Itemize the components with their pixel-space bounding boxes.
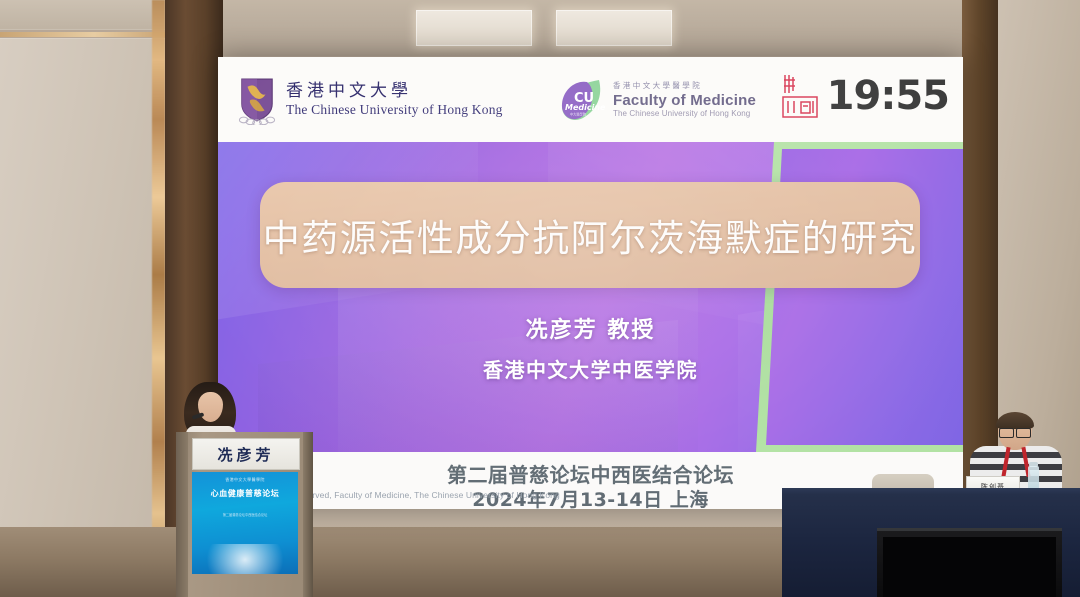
confidence-monitor [877, 528, 1062, 597]
copyright-notice: nts Reserved, Faculty of Medicine, The C… [278, 490, 560, 500]
attendee-hair [996, 412, 1034, 429]
svg-text:中大醫學院: 中大醫學院 [570, 112, 587, 117]
seated-attendee: 陈创基 [968, 414, 1064, 496]
podium-screen-header: 香港中文大學醫學院 [192, 477, 298, 483]
podium-screen-subtitle: 第二届普慈论坛中西医结合论坛 [192, 512, 298, 517]
copper-accent-strip [152, 0, 165, 597]
clock-time-display: 19:55 [827, 76, 949, 116]
faculty-name-english: Faculty of Medicine [613, 93, 756, 108]
presenter-affiliation: 香港中文大学中医学院 [218, 354, 963, 383]
podium-nameplate: 冼彦芳 [192, 438, 300, 470]
cuhk-name-chinese: 香港中文大學 [286, 83, 503, 100]
head-table [782, 488, 1080, 597]
cuhk-shield-icon [238, 75, 276, 125]
podium-screen-title: 心血健康普慈论坛 [192, 488, 298, 499]
podium-display-screen: 香港中文大學醫學院 心血健康普慈论坛 第二届普慈论坛中西医结合论坛 [192, 472, 298, 574]
cu-medicine-leaf-icon: CU Medicine 中大醫學院 [559, 76, 605, 124]
ceiling-light-panel [416, 10, 532, 46]
faculty-logo-text: 香港中文大學醫學院 Faculty of Medicine The Chines… [613, 82, 756, 118]
lectern-podium: 冼彦芳 香港中文大學醫學院 心血健康普慈论坛 第二届普慈论坛中西医结合论坛 [176, 432, 313, 597]
podium-right-edge [303, 432, 313, 597]
slide-title-pill: 中药源活性成分抗阿尔茨海默症的研究 [260, 182, 920, 288]
page-title: 中药源活性成分抗阿尔茨海默症的研究 [263, 208, 918, 262]
podium-screen-glow [204, 544, 286, 574]
faculty-university-line: The Chinese University of Hong Kong [613, 110, 756, 118]
podium-nameplate-text: 冼彦芳 [217, 444, 274, 465]
projection-screen: 香港中文大學 The Chinese University of Hong Ko… [218, 57, 963, 509]
svg-text:Medicine: Medicine [565, 103, 605, 112]
podium-left-edge [176, 432, 188, 597]
ceiling-light-panel [556, 10, 672, 46]
presentation-clock: 19:55 [779, 71, 949, 121]
chinese-seal-stamp-icon [779, 71, 823, 121]
cuhk-name-english: The Chinese University of Hong Kong [286, 103, 503, 117]
presenter-name: 冼彦芳 教授 [218, 312, 963, 344]
conference-title: 第二届普慈论坛中西医结合论坛 [218, 459, 963, 488]
conference-room-photo: 香港中文大學 The Chinese University of Hong Ko… [0, 0, 1080, 597]
presenter-block: 冼彦芳 教授 香港中文大学中医学院 [218, 312, 963, 383]
slide-header: 香港中文大學 The Chinese University of Hong Ko… [218, 57, 963, 142]
cuhk-logo-text: 香港中文大學 The Chinese University of Hong Ko… [286, 83, 503, 117]
faculty-name-chinese: 香港中文大學醫學院 [613, 82, 756, 90]
glasses-icon [999, 428, 1031, 436]
cuhk-logo: 香港中文大學 The Chinese University of Hong Ko… [238, 75, 503, 125]
monitor-screen [883, 537, 1056, 597]
faculty-of-medicine-logo: CU Medicine 中大醫學院 香港中文大學醫學院 Faculty of M… [559, 76, 756, 124]
